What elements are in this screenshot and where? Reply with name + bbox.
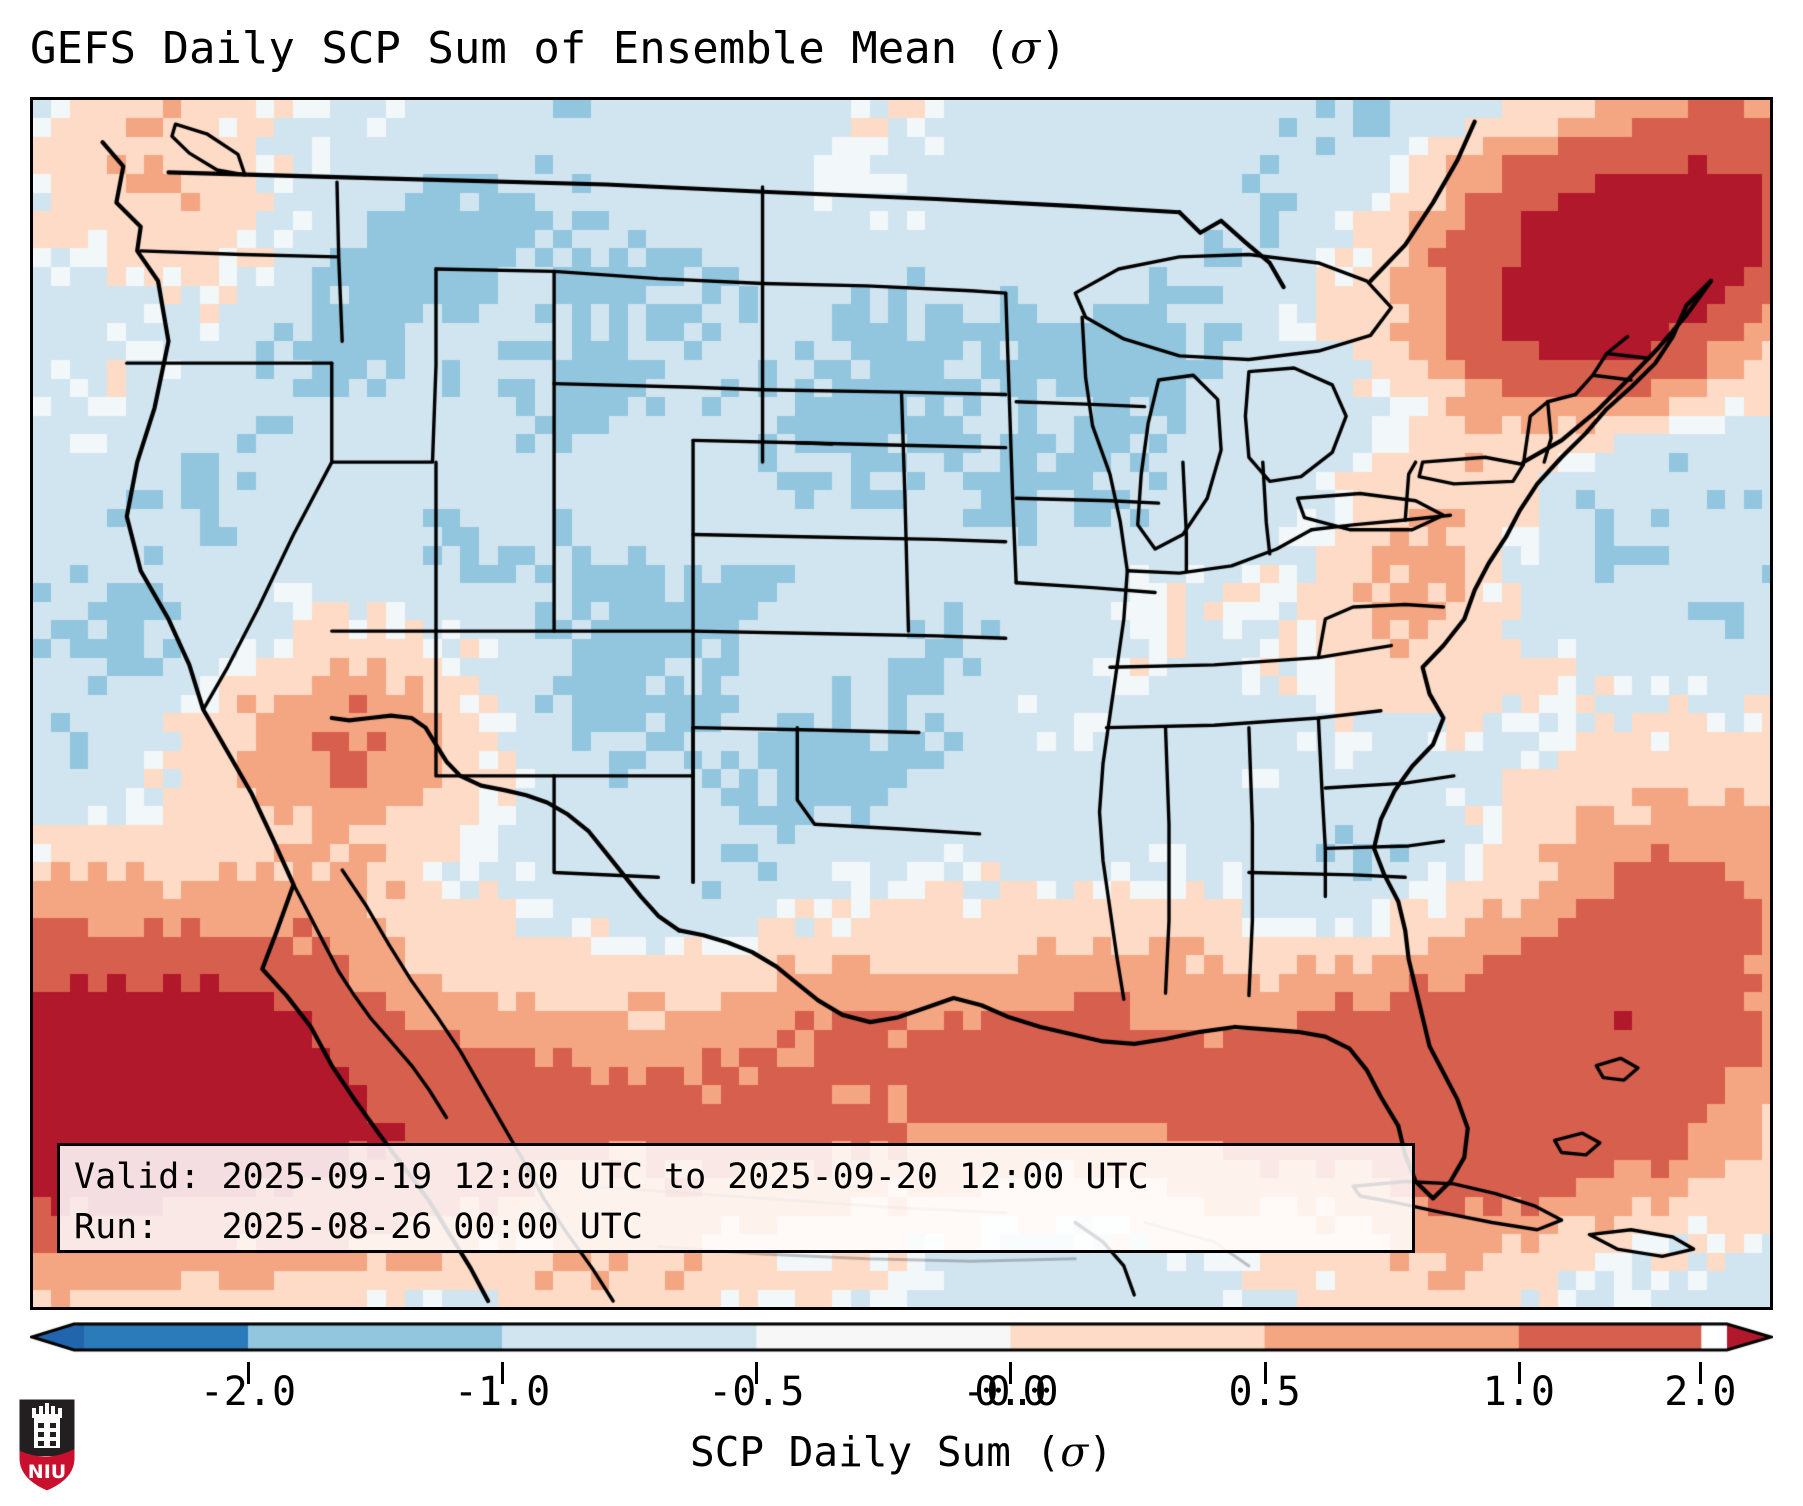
valid-time-line: Valid: 2025-09-19 12:00 UTC to 2025-09-2… (74, 1152, 1398, 1202)
colorbar-close-paren: ) (1088, 1428, 1113, 1476)
figure-root: GEFS Daily SCP Sum of Ensemble Mean (σ) … (0, 0, 1803, 1506)
colorbar-tick-label: 1.0 (1483, 1366, 1555, 1418)
niu-logo: NIU (14, 1396, 80, 1494)
title-text: GEFS Daily SCP Sum of Ensemble Mean ( (30, 23, 1010, 74)
colorbar-tick-label: 0.5 (1228, 1366, 1300, 1418)
page-title: GEFS Daily SCP Sum of Ensemble Mean (σ) (30, 14, 1773, 84)
logo-text: NIU (28, 1461, 66, 1483)
colorbar-tick-label: -2.0 (200, 1366, 296, 1418)
colorbar-tick-label: 2.0 (1664, 1366, 1736, 1418)
map-plot-area[interactable] (30, 97, 1773, 1310)
colorbar-axis-label: SCP Daily Sum (σ) (0, 1424, 1803, 1480)
colorbar-tick-label: -0.5 (708, 1366, 804, 1418)
valid-run-annotation-box: Valid: 2025-09-19 12:00 UTC to 2025-09-2… (57, 1143, 1415, 1253)
colorbar-tick-labels: -2.0-1.0-0.5-0.00.00.51.02.0 (0, 1366, 1803, 1422)
heatmap-canvas (33, 100, 1770, 1307)
colorbar-tick-label: 0.0 (974, 1366, 1046, 1418)
colorbar-label-text: SCP Daily Sum ( (690, 1428, 1060, 1476)
colorbar-tick-label: -1.0 (454, 1366, 550, 1418)
run-time-line: Run: 2025-08-26 00:00 UTC (74, 1202, 1398, 1252)
colorbar-sigma-symbol: σ (1060, 1428, 1088, 1476)
title-close-paren: ) (1040, 23, 1067, 74)
title-sigma-symbol: σ (1010, 23, 1040, 74)
